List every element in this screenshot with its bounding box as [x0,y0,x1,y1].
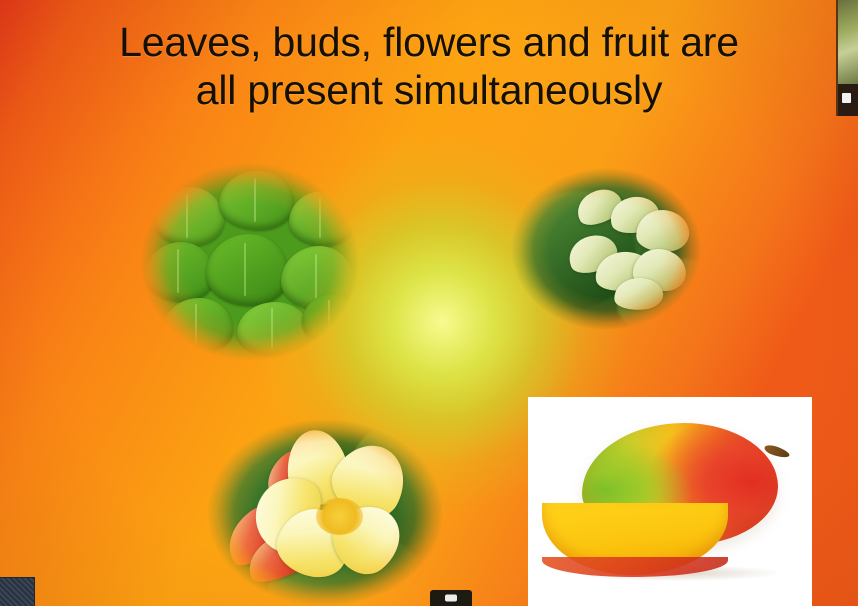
leaf-shape [154,187,224,246]
buds-background-leaf [511,168,701,330]
flower-center [316,498,363,535]
thumbnail-image [838,0,858,84]
leaves-foliage [141,163,359,361]
slide-title: Leaves, buds, flowers and fruit are all … [0,18,858,114]
leaf-shape [302,294,359,345]
hatched-corner-marker [0,577,35,606]
playback-control-chip[interactable] [430,590,472,606]
title-line-2: all present simultaneously [26,66,832,114]
leaf-shape [206,234,289,305]
playback-chip-indicator [445,595,457,602]
photo-flower [207,419,443,606]
leaf-shape [237,302,311,357]
video-thumbnail-sliver[interactable] [836,0,858,116]
photo-mango [528,397,812,606]
photo-buds [511,168,701,330]
photo-leaves [141,163,359,361]
leaf-shape [219,171,293,230]
leaf-shape [163,298,233,353]
flower-background-leaves [207,419,443,606]
title-line-1: Leaves, buds, flowers and fruit are [119,19,739,65]
thumbnail-glyph-icon [842,93,851,103]
leaf-shape [145,242,215,301]
presentation-slide: Leaves, buds, flowers and fruit are all … [0,0,858,606]
leaf-shape [289,191,354,246]
